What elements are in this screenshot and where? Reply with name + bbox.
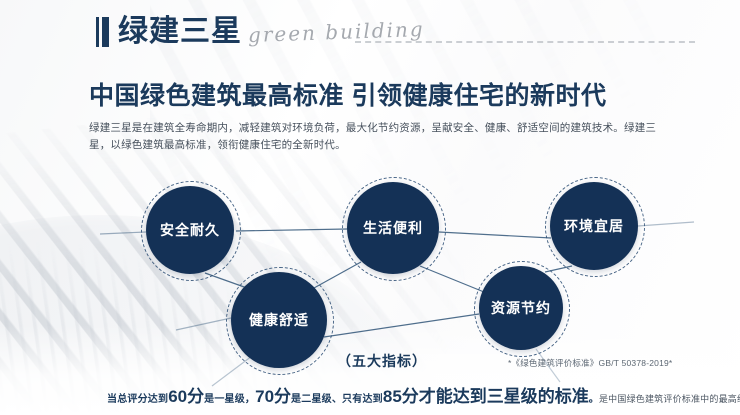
- brand-header: 绿建三星: [96, 12, 242, 52]
- score-caption-score3: 85分: [383, 387, 419, 406]
- accent-bar-thin-icon: [96, 17, 99, 47]
- node-environment[interactable]: 环境宜居: [550, 182, 638, 270]
- brand-title-cn: 绿建三星: [118, 17, 242, 47]
- score-caption-tail: 是中国绿色建筑评价标准中的最高级别: [599, 394, 740, 404]
- score-caption-score2: 70分: [255, 387, 291, 406]
- accent-bar-thick-icon: [102, 17, 109, 47]
- node-resource-label: 资源节约: [491, 298, 551, 318]
- score-caption-part2: 是一星级，: [204, 394, 255, 405]
- score-caption-part1: 当总评分达到: [107, 394, 168, 405]
- node-comfort-label: 健康舒适: [249, 310, 309, 330]
- score-caption-part4: 才能达到三星级的标准: [419, 387, 589, 406]
- score-caption-part5: 。: [589, 394, 599, 405]
- node-safety[interactable]: 安全耐久: [146, 186, 234, 274]
- score-caption-score1: 60分: [168, 387, 204, 406]
- five-indicators-label: （五大指标）: [337, 351, 427, 371]
- node-environment-label: 环境宜居: [564, 216, 624, 236]
- score-caption: 当总评分达到60分是一星级，70分是二星级、只有达到85分才能达到三星级的标准。…: [107, 382, 740, 407]
- node-comfort[interactable]: 健康舒适: [231, 272, 327, 368]
- node-convenience-label: 生活便利: [363, 218, 423, 238]
- node-resource[interactable]: 资源节约: [479, 266, 563, 350]
- node-convenience[interactable]: 生活便利: [347, 182, 439, 274]
- score-caption-part3: 是二星级、只有达到: [291, 394, 383, 405]
- page-title: 中国绿色建筑最高标准 引领健康住宅的新时代: [89, 76, 606, 112]
- header-dashed-divider: [355, 41, 695, 43]
- standard-footnote: *《绿色建筑评价标准》GB/T 50378-2019*: [508, 357, 672, 369]
- node-safety-label: 安全耐久: [160, 220, 220, 240]
- intro-paragraph: 绿建三星是在建筑全寿命期内，减轻建筑对环境负荷，最大化节约资源，呈献安全、健康、…: [89, 120, 659, 154]
- slide-root: 绿建三星 green building 中国绿色建筑最高标准 引领健康住宅的新时…: [0, 0, 740, 415]
